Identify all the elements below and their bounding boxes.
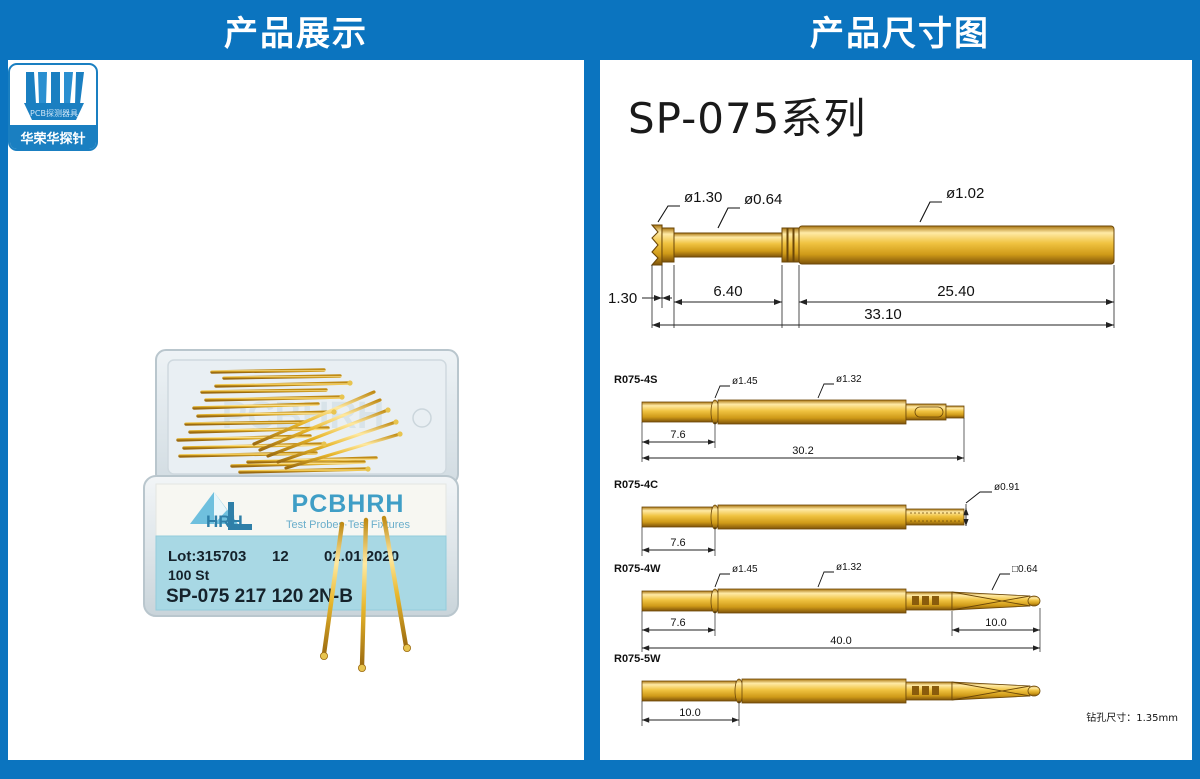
main-probe-drawing: ø1.30 ø0.64 ø1.02 1.30 6.40 [608,185,1114,328]
variant-2-name: R075-4W [614,563,661,575]
variant-0-callout-1: ø1.32 [836,374,862,385]
variant-drawing-0: R075-4S ø1.45 ø1.32 7.6 30.2 [614,374,964,462]
variant-0-name: R075-4S [614,374,657,386]
variant-1-callout-0: ø0.91 [994,482,1020,493]
product-photo: PCBHRH [128,280,488,680]
product-photo-panel: PCB探测器具 华荣华探针 [8,60,584,760]
variant-0-dim-1: 30.2 [792,445,813,457]
main-dim-0: 1.30 [608,290,637,307]
right-panel-header: 产品尺寸图 [600,0,1200,60]
variant-0-callout-0: ø1.45 [732,376,758,387]
logo-inner-text: PCB探测器具 [30,108,78,118]
main-callout-0: ø1.30 [684,189,722,206]
variant-2-dim-2: 10.0 [985,617,1006,629]
variant-3-name: R075-5W [614,653,661,665]
variant-2-callout-1: ø1.32 [836,562,862,573]
main-dim-1: 6.40 [713,283,742,300]
main-dim-2: 25.40 [937,283,975,300]
variant-2-dim-1: 40.0 [830,635,851,647]
left-header-title: 产品展示 [224,6,368,55]
variant-1-dim-0: 7.6 [670,537,685,549]
main-callout-2: ø1.02 [946,185,984,202]
label-lot: Lot:315703 [168,548,246,565]
variant-3-dim-0: 10.0 [679,707,700,719]
right-header-title: 产品尺寸图 [810,6,990,55]
main-callout-1: ø0.64 [744,191,782,208]
variant-0-dim-0: 7.6 [670,429,685,441]
crown-tip [652,225,662,265]
variant-2-callout-0: ø1.45 [732,564,758,575]
label-tagline: Test Probes·Test Fixtures [286,519,411,531]
logo-band-text: 华荣华探针 [10,125,96,149]
label-brand-mark: HRH [206,512,243,531]
variant-1-name: R075-4C [614,479,658,491]
label-quantity: 100 St [168,567,210,583]
variant-2-callout-2: □0.64 [1012,564,1038,575]
variant-2-dim-0: 7.6 [670,617,685,629]
variant-drawing-2: R075-4W ø1.45 ø1.32 □0.64 [614,562,1040,652]
label-brand: PCBHRH [292,490,405,518]
company-logo: PCB探测器具 华荣华探针 [8,63,98,151]
label-lot-code: 12 [272,548,289,565]
variant-drawing-3: R075-5W 10.0 [614,653,1040,726]
main-dim-3: 33.10 [864,306,902,323]
drill-size-note: 钻孔尺寸：1.35mm [1086,709,1178,724]
dimension-drawings: ø1.30 ø0.64 ø1.02 1.30 6.40 [600,60,1192,760]
product-spec-page: 产品展示 产品尺寸图 PCB探测器具 华荣华探针 [0,0,1200,779]
variant-drawing-1: R075-4C ø0.91 7.6 [614,479,1020,556]
crown-probe-mark: PCB探测器具 [20,70,88,128]
label-model: SP-075 217 120 2N-B [166,586,353,607]
left-panel-header: 产品展示 [0,0,592,60]
dimension-drawing-panel: SP-075系列 [600,60,1192,760]
